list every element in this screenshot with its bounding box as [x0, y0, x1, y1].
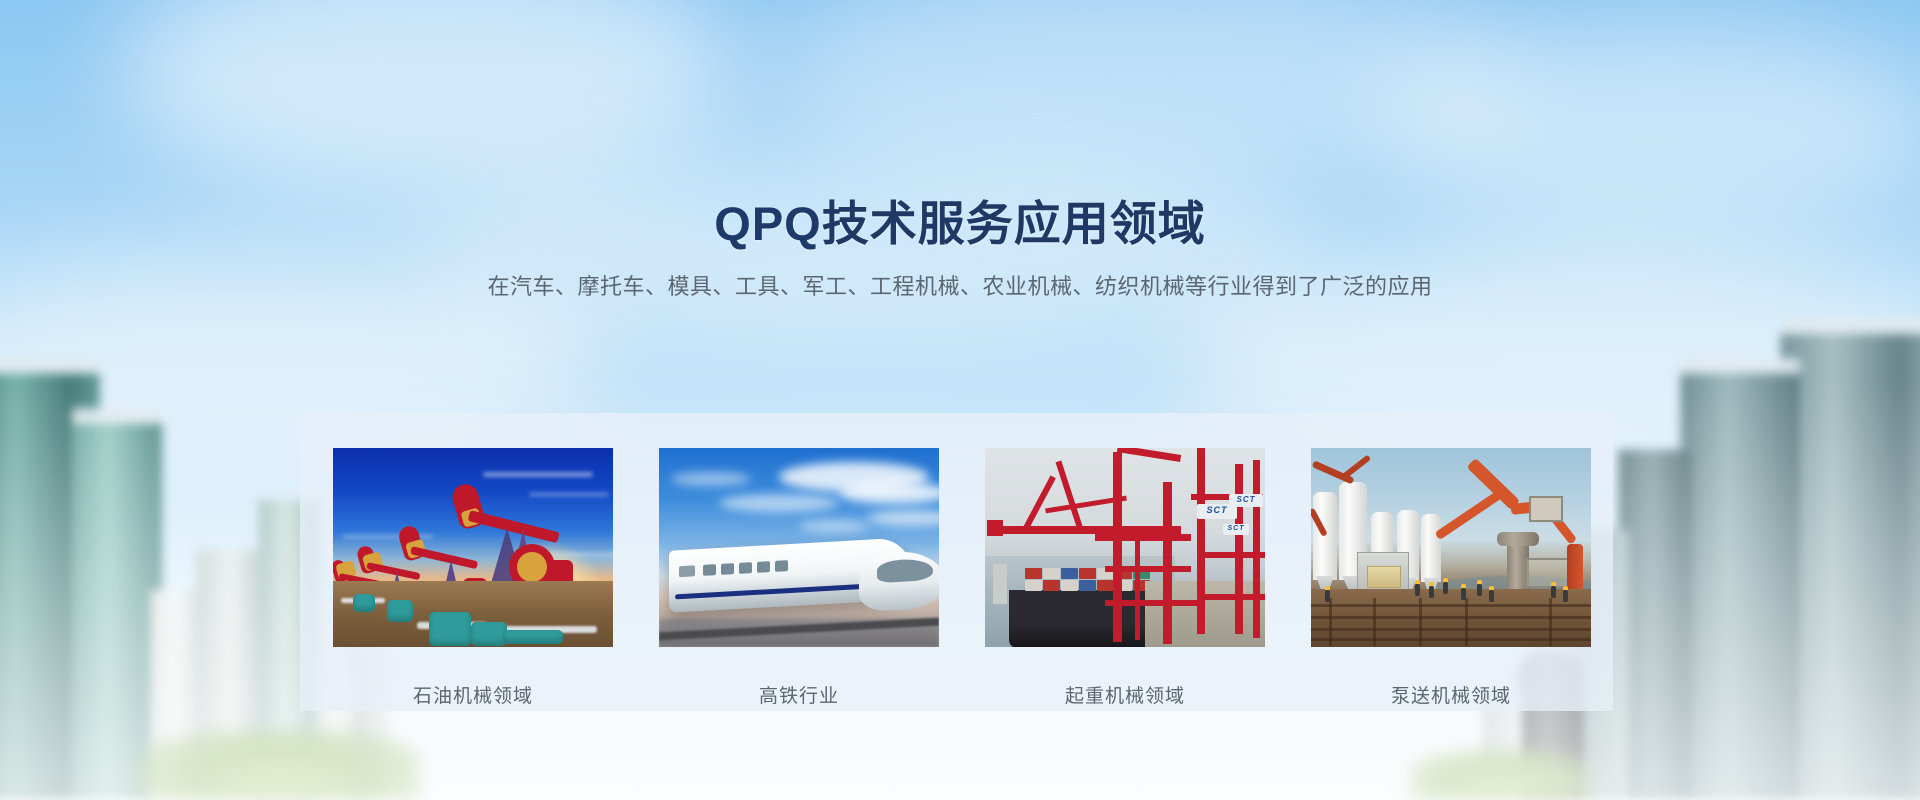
page-title-cjk: 技术服务应用领域 — [822, 197, 1206, 250]
application-card-crane[interactable]: SCT SCT SCT 起重机械领域 — [985, 448, 1265, 708]
card-caption: 起重机械领域 — [985, 681, 1265, 708]
high-speed-train-photo[interactable] — [659, 448, 939, 647]
application-card-list: 石油机械领域 — [333, 448, 1591, 708]
crane-operator-label: SCT — [1223, 524, 1249, 535]
cloud-decoration — [120, 0, 740, 200]
card-caption: 泵送机械领域 — [1311, 681, 1591, 708]
headline-block: QPQ技术服务应用领域 在汽车、摩托车、模具、工具、军工、工程机械、农业机械、纺… — [0, 196, 1920, 303]
crane-operator-label: SCT — [1229, 494, 1263, 507]
application-fields-panel: 石油机械领域 — [300, 413, 1613, 711]
port-gantry-cranes-photo[interactable]: SCT SCT SCT — [985, 448, 1265, 647]
concrete-pump-machinery-photo[interactable] — [1311, 448, 1591, 647]
oil-pump-jacks-photo[interactable] — [333, 448, 613, 647]
cloud-decoration — [760, 0, 1520, 190]
page-title-latin: QPQ — [714, 197, 821, 250]
card-caption: 石油机械领域 — [333, 681, 613, 708]
card-caption: 高铁行业 — [659, 681, 939, 708]
page-title: QPQ技术服务应用领域 — [0, 196, 1920, 252]
application-banner: QPQ技术服务应用领域 在汽车、摩托车、模具、工具、军工、工程机械、农业机械、纺… — [0, 0, 1920, 800]
application-card-pump[interactable]: 泵送机械领域 — [1311, 448, 1591, 708]
application-card-oil[interactable]: 石油机械领域 — [333, 448, 613, 708]
page-subtitle: 在汽车、摩托车、模具、工具、军工、工程机械、农业机械、纺织机械等行业得到了广泛的… — [0, 272, 1920, 303]
application-card-rail[interactable]: 高铁行业 — [659, 448, 939, 708]
